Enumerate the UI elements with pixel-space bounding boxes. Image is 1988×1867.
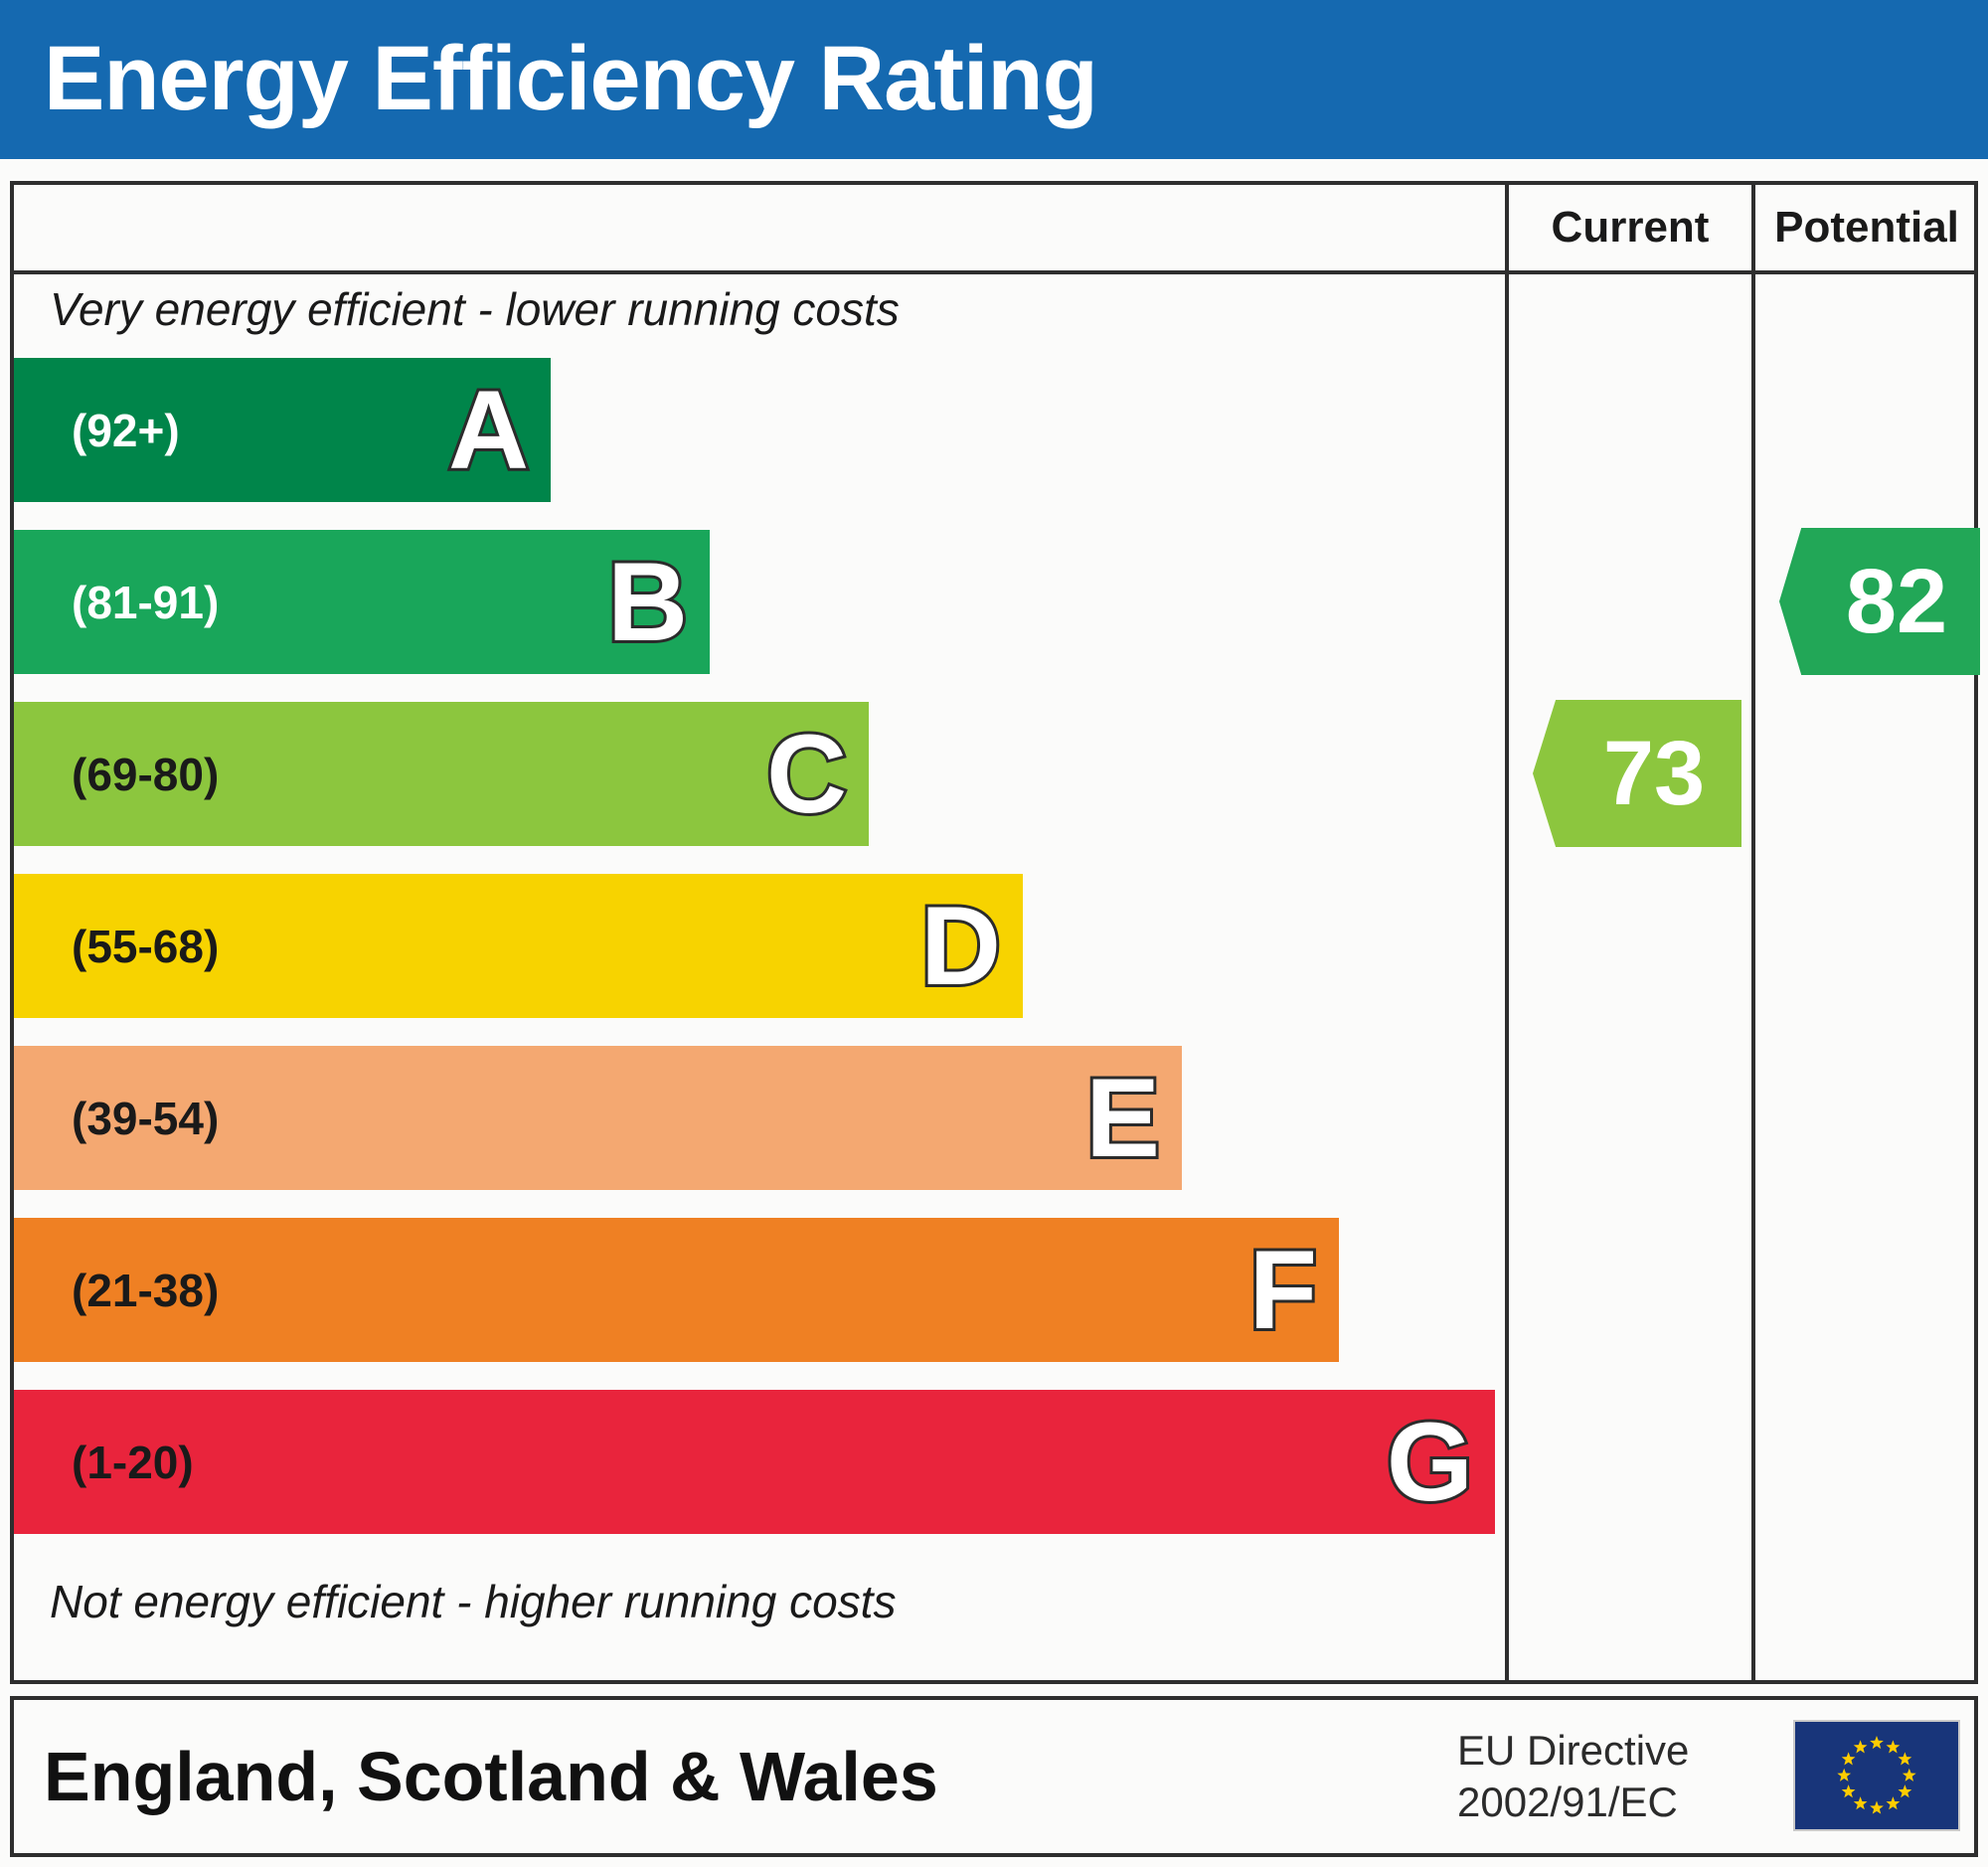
band-list: (92+)A(81-91)B(69-80)C(55-68)D(39-54)E(2…: [14, 358, 1501, 1565]
band-row-a: (92+)A: [14, 358, 551, 502]
band-range-f: (21-38): [72, 1264, 219, 1317]
chart-title-bar: Energy Efficiency Rating: [0, 0, 1988, 159]
band-range-b: (81-91): [72, 576, 219, 629]
band-letter-g: G: [1387, 1407, 1473, 1518]
band-letter-d: D: [920, 891, 1001, 1002]
band-letter-c: C: [766, 719, 847, 830]
eu-directive-line1: EU Directive: [1457, 1725, 1689, 1777]
band-row-f: (21-38)F: [14, 1218, 1339, 1362]
band-row-b: (81-91)B: [14, 530, 710, 674]
caption-not-efficient: Not energy efficient - higher running co…: [50, 1575, 896, 1628]
band-range-g: (1-20): [72, 1436, 194, 1489]
ratings-table: Current Potential Very energy efficient …: [10, 181, 1978, 1684]
potential-rating-badge: 82: [1779, 528, 1980, 675]
band-letter-b: B: [607, 547, 688, 658]
column-divider-potential: [1751, 185, 1755, 1680]
current-rating-badge: 73: [1533, 700, 1741, 847]
band-range-a: (92+): [72, 404, 180, 457]
band-row-c: (69-80)C: [14, 702, 869, 846]
band-letter-a: A: [448, 375, 529, 486]
column-header-potential: Potential: [1755, 185, 1978, 270]
page-title: Energy Efficiency Rating: [44, 24, 1097, 133]
current-rating-value: 73: [1603, 722, 1705, 826]
band-row-d: (55-68)D: [14, 874, 1023, 1018]
band-range-d: (55-68): [72, 920, 219, 973]
band-row-e: (39-54)E: [14, 1046, 1182, 1190]
footer-bar: England, Scotland & Wales EU Directive 2…: [10, 1696, 1978, 1857]
eu-directive-line2: 2002/91/EC: [1457, 1777, 1689, 1828]
energy-efficiency-rating-chart: Energy Efficiency Rating Current Potenti…: [0, 0, 1988, 1867]
region-label: England, Scotland & Wales: [44, 1737, 938, 1816]
column-header-current: Current: [1509, 185, 1751, 270]
eu-flag-icon: [1793, 1720, 1960, 1831]
potential-rating-value: 82: [1846, 550, 1947, 654]
eu-directive-label: EU Directive 2002/91/EC: [1457, 1725, 1689, 1828]
band-letter-f: F: [1249, 1235, 1317, 1346]
column-divider-current: [1505, 185, 1509, 1680]
band-letter-e: E: [1085, 1063, 1160, 1174]
band-range-c: (69-80): [72, 748, 219, 801]
caption-very-efficient: Very energy efficient - lower running co…: [50, 282, 900, 336]
band-range-e: (39-54): [72, 1092, 219, 1145]
band-row-g: (1-20)G: [14, 1390, 1495, 1534]
